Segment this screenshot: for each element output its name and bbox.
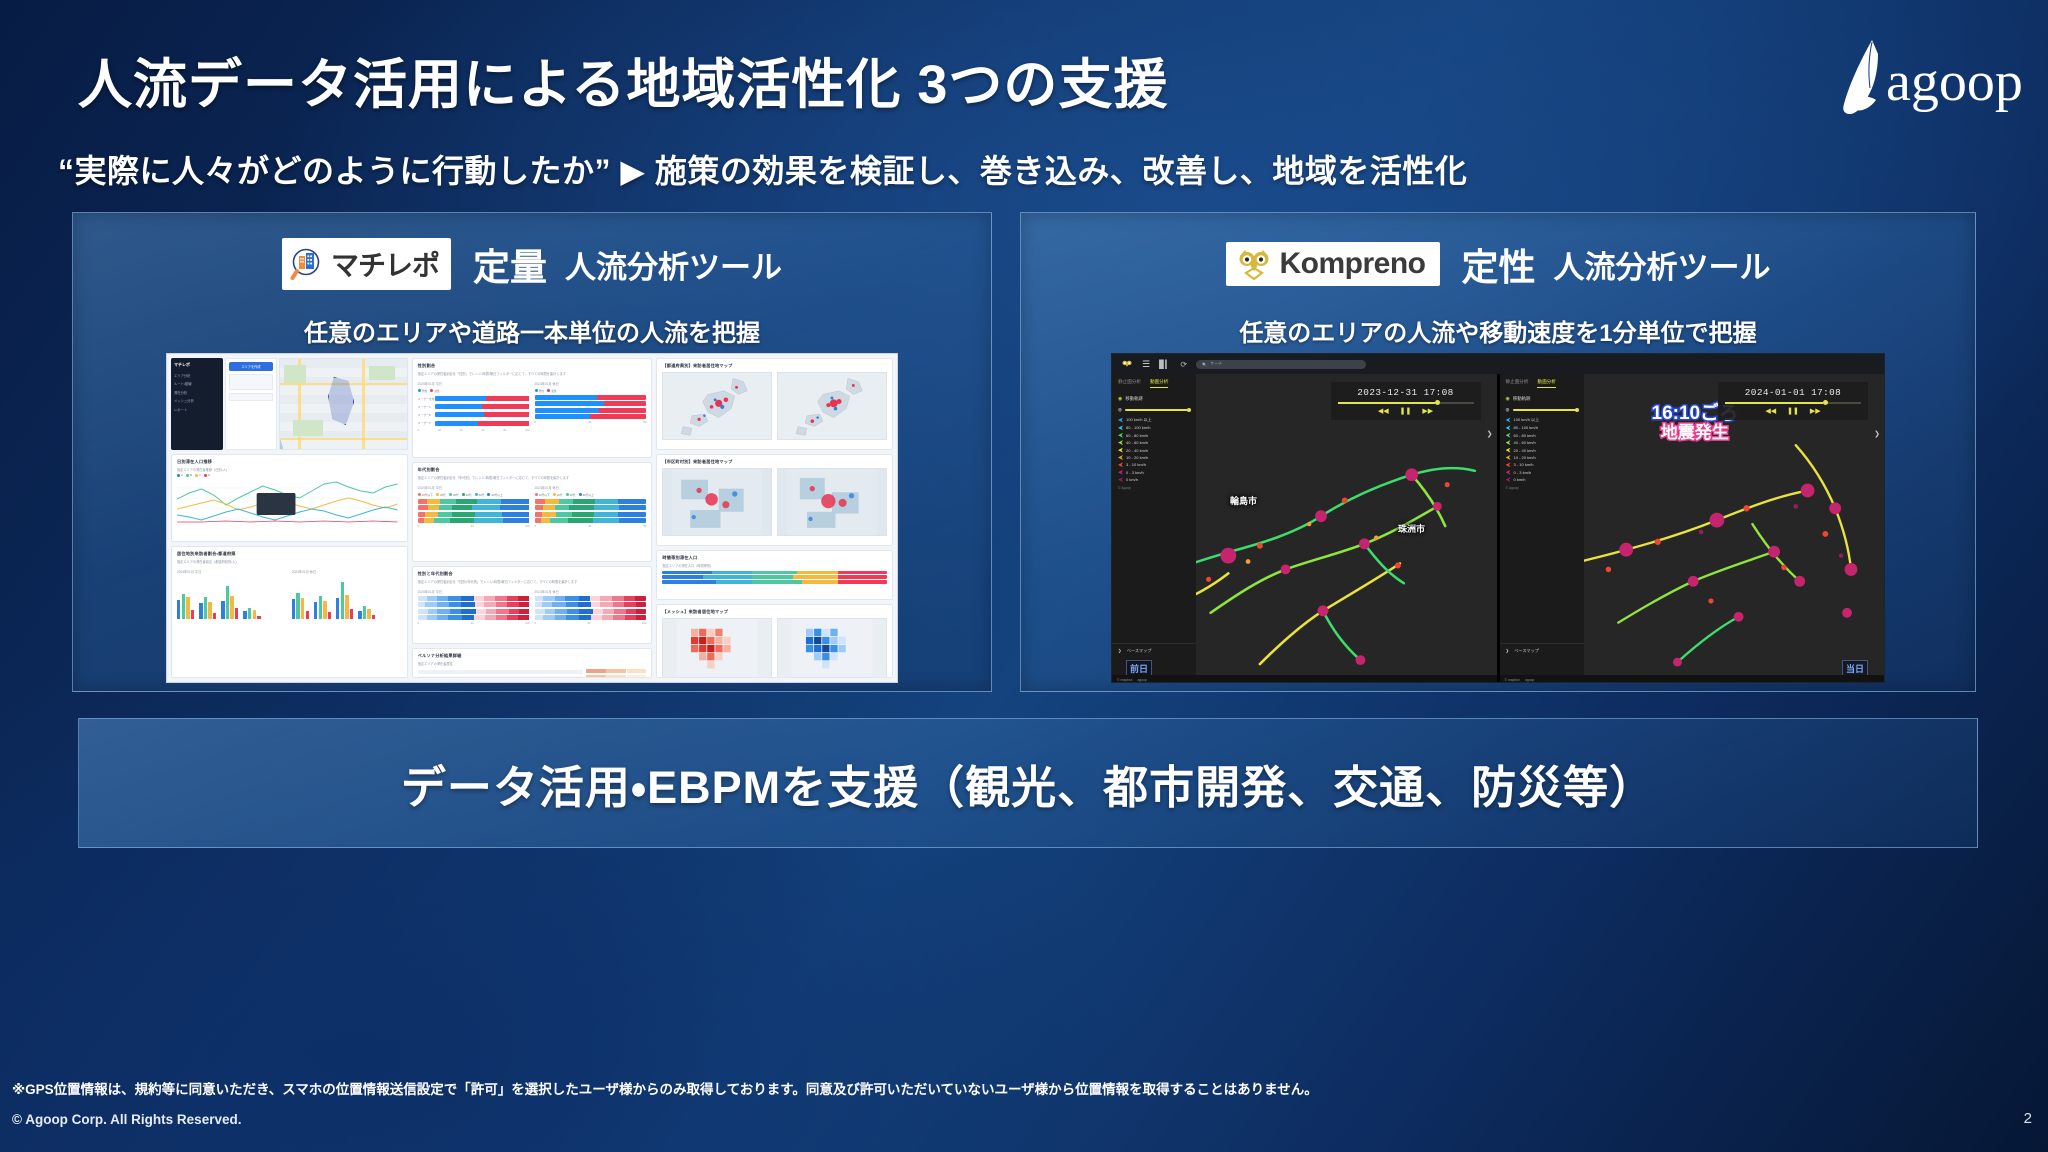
axis-tick: 20 (438, 429, 441, 432)
legend-age: 10代以下 (422, 493, 433, 497)
mr-card-title: 年代別割合 (418, 467, 647, 473)
kp-sidebar-right[interactable]: 静止画分析 動画分析 ◉ 移動軌跡 ◍ (1500, 374, 1584, 683)
page-subtitle: “実際に人々がどのように行動したか” ▶ 施策の効果を検証し、巻き込み、改善し、… (58, 146, 1467, 192)
kp-trace-toggle[interactable]: ◉ 移動軌跡 (1506, 396, 1578, 402)
legend-speed: 0 km/h (1514, 477, 1526, 482)
search-icon: 🔍 (1202, 362, 1207, 367)
mr-card-title: 【市区町村別】来訪者居住地マップ (662, 459, 887, 465)
kp-attribution-right: © mapbox agoop (1500, 675, 1885, 683)
legend-speed: 100 km/h 以上 (1514, 417, 1540, 423)
legend-speed: 80 - 100 km/h (1126, 425, 1150, 430)
mr-legend: AB CD (177, 474, 402, 477)
mr-area-panel[interactable]: エリアを作成 (225, 358, 277, 450)
legend-female: 女性 (551, 389, 556, 393)
forward-icon[interactable]: ▶▶ (1810, 407, 1821, 415)
legend-age: 60代以上 (492, 493, 503, 497)
slide-canvas: 人流データ活用による地域活性化 3つの支援 “実際に人々がどのように行動したか”… (0, 0, 2048, 1152)
kp-trace-toggle[interactable]: ◉ 移動軌跡 (1118, 396, 1190, 402)
mr-card-title: 日別滞在人口推移 (177, 459, 402, 465)
mr-period-label: 2024年01月 休日 (535, 589, 647, 594)
mr-card-origin-map-mesh[interactable]: 【メッシュ】来訪者居住地マップ (656, 604, 893, 678)
tab-video-analysis[interactable]: 動画分析 (1537, 379, 1555, 388)
row-label: ユーザーC (418, 421, 435, 425)
rewind-icon[interactable]: ◀◀ (1765, 407, 1776, 415)
axis-tick: 60 (482, 429, 485, 432)
mr-card-subtitle: 指定エリアの滞在者割合を「年代別」でレンジ・時間・曜日フィルターに応じて、すべて… (418, 475, 647, 480)
mr-card-gender-age[interactable]: 性別と年代別割合 指定エリアの滞在者割合を「性別×年代別」でレンジ・時間・曜日フ… (412, 566, 653, 644)
kp-city-wajima: 輪島市 (1230, 494, 1257, 507)
kompreno-map-screenshot[interactable]: ☰ ▊▎ ⟳ 🔍 サーチ (1111, 353, 1885, 683)
kp-basemap-toggle[interactable]: ❯ ベースマップ (1500, 643, 1584, 658)
legend-age: 10代以下 (539, 493, 550, 497)
agoop-logo: agoop (1828, 36, 2028, 122)
mr-card-daily-trend[interactable]: 日別滞在人口推移 指定エリアの滞在者推移（日別・人） AB CD (171, 454, 408, 542)
mr-bar-chart-holiday: 2024年01月 休日 (292, 568, 402, 620)
mr-area-item[interactable] (229, 393, 273, 401)
axis-tick: 80 (643, 525, 646, 528)
mr-card-subtitle: 指定エリアの滞在者割合（都道府県別・人） (177, 559, 402, 564)
legend-age: 50代 (479, 493, 485, 497)
axis-tick: 100 (642, 622, 646, 625)
kp-copyright: © Agoop (1506, 486, 1578, 490)
machirepo-logo-text: マチレポ (331, 244, 439, 284)
rewind-icon[interactable]: ◀◀ (1378, 407, 1389, 415)
kompreno-description: 任意のエリアの人流や移動速度を1分単位で把握 (1021, 313, 1975, 348)
chevron-right-icon: ❯ (1118, 648, 1122, 653)
eye-icon: ◉ (1118, 396, 1122, 402)
mr-period-label: 2024年01月 休日 (535, 485, 647, 490)
mr-card-title: 時間帯別滞在人口 (662, 555, 887, 561)
mr-nav-item[interactable]: メッシュ分析 (174, 398, 220, 403)
mr-card-subtitle: 指定エリアの滞在者推移（日別・人） (177, 467, 402, 472)
mr-gender-weekday: 2024年01月 平日 男性女性 ユーザー全体 ユーザーA ユーザーB ユーザー… (418, 380, 530, 432)
kp-speed-legend: 100 km/h 以上 80 - 100 km/h 60 - 80 km/h 4… (1118, 417, 1190, 482)
mr-card-origin-map-city[interactable]: 【市区町村別】来訪者居住地マップ (656, 454, 893, 546)
mr-period-label: 2024年01月 平日 (418, 381, 530, 386)
mr-card-title: 性別と年代別割合 (418, 571, 647, 577)
legend-speed: 10 - 20 km/h (1126, 455, 1148, 460)
kompreno-category: 定性 (1462, 237, 1536, 291)
mr-card-persona[interactable]: ペルソナ分析結果詳細 指定エリアの滞在者属性 (412, 648, 653, 678)
legend-speed: 10 - 20 km/h (1514, 455, 1536, 460)
axis-tick: 80 (503, 429, 506, 432)
axis-tick: 40 (588, 421, 591, 424)
kp-time-control-left[interactable]: 2023-12-31 17:08 ◀◀ ❚❚ ▶▶ (1331, 382, 1481, 420)
mr-create-area-button[interactable]: エリアを作成 (229, 362, 273, 371)
kp-opacity-slider[interactable]: ◍ (1118, 407, 1190, 413)
mr-card-subtitle: 指定エリアの滞在者割合を「性別×年代別」でレンジ・時間・曜日フィルターに応じて、… (418, 579, 647, 584)
mr-area-map[interactable] (279, 358, 408, 450)
axis-tick: 100 (525, 622, 529, 625)
japan-map-weekday[interactable] (662, 372, 772, 440)
legend-speed: 3 - 10 km/h (1126, 462, 1146, 467)
mr-card-age[interactable]: 年代別割合 指定エリアの滞在者割合を「年代別」でレンジ・時間・曜日フィルターに応… (412, 462, 653, 562)
tab-static-analysis[interactable]: 静止画分析 (1118, 379, 1141, 388)
mr-card-subtitle: 指定エリアの滞在人口（時間帯別） (662, 563, 887, 568)
axis-tick: 60 (471, 622, 474, 625)
owl-icon-small (1121, 359, 1133, 370)
axis-tick: 40 (460, 429, 463, 432)
pause-icon[interactable]: ❚❚ (1400, 407, 1412, 415)
panel-machirepo: マチレポ 定量 人流分析ツール 任意のエリアや道路一本単位の人流を把握 マチレポ… (72, 212, 992, 692)
mr-period-label: 2024年01月 休日 (292, 569, 402, 574)
kp-search-input[interactable]: 🔍 サーチ (1196, 360, 1366, 369)
kp-attribution-left: © mapbox agoop (1112, 675, 1497, 683)
mr-card-title: 性別割合 (418, 363, 647, 369)
mr-period-label: 2024年01月 休日 (535, 381, 647, 386)
axis-tick: 100 (525, 429, 529, 432)
mr-gender-age-holiday: 2024年01月 休日 060100 (535, 588, 647, 625)
axis-tick: 0 (535, 622, 536, 625)
mr-period-label: 2024年01月 平日 (177, 569, 287, 574)
machirepo-tool-label: 人流分析ツール (565, 242, 782, 287)
kp-toolbar[interactable]: ☰ ▊▎ ⟳ 🔍 サーチ (1112, 354, 1884, 374)
agoop-attribution: agoop (1138, 678, 1147, 682)
page-number: 2 (2024, 1110, 2032, 1127)
legend-age: 40代 (466, 493, 472, 497)
legend-speed: 0 - 3 km/h (1126, 470, 1144, 475)
mr-card-visitor-origin[interactable]: 居住地別来訪者割合・都道府県 指定エリアの滞在者割合（都道府県別・人） 2024… (171, 546, 408, 678)
axis-tick: 60 (588, 622, 591, 625)
mr-card-subtitle: 指定エリアの滞在者割合を「性別」でレンジ・時間・曜日フィルターに応じて、すべての… (418, 371, 647, 376)
mr-gender-holiday: 2024年01月 休日 男性女性 04080 (535, 380, 647, 432)
kp-opacity-slider[interactable]: ◍ (1506, 407, 1578, 413)
forward-icon[interactable]: ▶▶ (1422, 407, 1433, 415)
eye-icon: ◉ (1506, 396, 1510, 402)
mr-card-title: 居住地別来訪者割合・都道府県 (177, 551, 402, 557)
mr-card-origin-map-pref[interactable]: 【都道府県別】来訪者居住地マップ (656, 358, 893, 450)
kp-timestamp-left: 2023-12-31 17:08 (1338, 387, 1474, 398)
kp-expand-chevron-right[interactable]: ❯ (1874, 430, 1880, 438)
legend-speed: 0 - 3 km/h (1514, 470, 1532, 475)
legend-speed: 40 - 60 km/h (1126, 440, 1148, 445)
machirepo-description: 任意のエリアや道路一本単位の人流を把握 (73, 313, 991, 348)
chart-icon[interactable]: ▊▎ (1159, 360, 1171, 369)
kompreno-logo-text: Kompreno (1280, 247, 1426, 281)
legend-male: 男性 (539, 389, 544, 393)
agoop-attribution: agoop (1525, 678, 1534, 682)
city-map-holiday[interactable] (777, 468, 887, 536)
legend-age: 20代 (440, 493, 446, 497)
machirepo-category: 定量 (473, 237, 547, 291)
legend-speed: 20 - 40 km/h (1514, 448, 1536, 453)
mapbox-attribution: © mapbox (1117, 678, 1133, 682)
magnifier-building-icon (290, 247, 324, 281)
kp-basemap-toggle[interactable]: ❯ ベースマップ (1112, 643, 1196, 658)
mr-nav-item[interactable]: エリア分析 (174, 373, 220, 378)
kp-trace-label: 移動軌跡 (1125, 396, 1143, 402)
kp-city-suzu: 珠洲市 (1398, 522, 1425, 535)
mapbox-attribution: © mapbox (1505, 678, 1521, 682)
pause-icon[interactable]: ❚❚ (1787, 407, 1799, 415)
footnote-gps: ※GPS位置情報は、規約等に同意いただき、スマホの位置情報送信設定で「許可」を選… (12, 1078, 1318, 1098)
legend-speed: 3 - 10 km/h (1514, 462, 1534, 467)
legend-age: 20代 (557, 493, 563, 497)
mr-card-title: ペルソナ分析結果詳細 (418, 653, 647, 659)
machirepo-header: マチレポ 定量 人流分析ツール (73, 237, 991, 291)
kp-sidebar-left[interactable]: 静止画分析 動画分析 ◉ 移動軌跡 ◍ (1112, 374, 1196, 683)
kp-timestamp-right: 2024-01-01 17:08 (1725, 387, 1861, 398)
axis-tick: 0 (418, 429, 419, 432)
mr-card-subtitle: 指定エリアの滞在者属性 (418, 661, 647, 666)
legend-age: 60代以上 (583, 493, 594, 497)
mr-card-title: 【都道府県別】来訪者居住地マップ (662, 363, 887, 369)
mr-gender-age-weekday: 2024年01月 平日 060100 (418, 588, 530, 625)
panel-kompreno: Kompreno 定性 人流分析ツール 任意のエリアの人流や移動速度を1分単位で… (1020, 212, 1976, 692)
legend-speed: 0 km/h (1126, 477, 1138, 482)
mr-line-chart (177, 479, 402, 525)
menu-icon[interactable]: ☰ (1142, 359, 1150, 370)
summary-banner-text: データ活用・EBPMを支援（観光、都市開発、交通、防災等） (401, 751, 1655, 816)
tab-video-analysis[interactable]: 動画分析 (1150, 379, 1168, 388)
mesh-map-weekday[interactable] (662, 618, 772, 678)
refresh-icon[interactable]: ⟳ (1180, 360, 1187, 369)
row-label: ユーザー全体 (418, 397, 435, 401)
legend-age: 30代 (453, 493, 459, 497)
kp-basemap-label: ベースマップ (1514, 648, 1539, 653)
mr-nav-item[interactable]: 滞在分析 (174, 390, 220, 395)
japan-map-holiday[interactable] (777, 372, 887, 440)
mr-nav-item[interactable]: レポート (174, 407, 220, 412)
mr-period-label: 2024年01月 平日 (418, 485, 530, 490)
legend-speed: 60 - 80 km/h (1514, 433, 1536, 438)
kp-progress-left[interactable] (1338, 402, 1474, 404)
legend-speed: 20 - 40 km/h (1126, 448, 1148, 453)
droplet-icon: ◍ (1118, 407, 1122, 413)
legend-speed: 80 - 100 km/h (1514, 425, 1538, 430)
axis-tick: 0 (418, 525, 419, 528)
legend-speed: 100 km/h 以上 (1126, 417, 1152, 423)
kp-pane-right[interactable]: 静止画分析 動画分析 ◉ 移動軌跡 ◍ (1497, 374, 1885, 683)
kp-tabs[interactable]: 静止画分析 動画分析 (1506, 379, 1578, 391)
kp-copyright: © Agoop (1118, 486, 1190, 490)
machirepo-dashboard-screenshot[interactable]: マチレポ エリア分析 ルート・動線 滞在分析 メッシュ分析 レポート エリアを作… (166, 353, 898, 683)
mr-bar-chart-weekday: 2024年01月 平日 (177, 568, 287, 620)
kp-search-placeholder: サーチ (1210, 361, 1222, 367)
row-label: ユーザーB (418, 413, 435, 417)
legend-speed: 40 - 60 km/h (1514, 440, 1536, 445)
machirepo-logo: マチレポ (282, 238, 451, 290)
kp-time-control-right[interactable]: 2024-01-01 17:08 ◀◀ ❚❚ ▶▶ (1718, 382, 1868, 420)
mesh-map-holiday[interactable] (777, 618, 887, 678)
mr-nav-logo: マチレポ (174, 362, 220, 368)
mr-card-gender[interactable]: 性別割合 指定エリアの滞在者割合を「性別」でレンジ・時間・曜日フィルターに応じて… (412, 358, 653, 458)
droplet-icon: ◍ (1506, 407, 1510, 413)
kp-speed-legend: 100 km/h 以上 80 - 100 km/h 60 - 80 km/h 4… (1506, 417, 1578, 482)
axis-tick: 40 (588, 525, 591, 528)
mr-period-label: 2024年01月 平日 (418, 589, 530, 594)
footer-copyright: © Agoop Corp. All Rights Reserved. (12, 1112, 241, 1127)
mr-area-item[interactable] (229, 374, 273, 390)
axis-tick: 0 (418, 622, 419, 625)
legend-speed: 60 - 80 km/h (1126, 433, 1148, 438)
mr-age-weekday: 2024年01月 平日 10代以下 20代 30代 40代 50代 60代以上 (418, 484, 530, 528)
legend-male: 男性 (422, 389, 427, 393)
axis-tick: 0 (535, 525, 536, 528)
tab-static-analysis[interactable]: 静止画分析 (1506, 379, 1529, 388)
kp-tabs[interactable]: 静止画分析 動画分析 (1118, 379, 1190, 391)
legend-female: 女性 (434, 389, 439, 393)
axis-tick: 40 (471, 525, 474, 528)
legend-age: 30代 (570, 493, 576, 497)
kp-quake-label: 地震発生 (1652, 424, 1739, 442)
axis-tick: 80 (643, 421, 646, 424)
row-label: ユーザーA (418, 405, 435, 409)
mr-card-title: 【メッシュ】来訪者居住地マップ (662, 609, 887, 615)
mr-age-holiday: 2024年01月 休日 10代以下 20代 30代 60代以上 (535, 484, 647, 528)
axis-tick: 100 (525, 525, 529, 528)
mr-card-hourly[interactable]: 時間帯別滞在人口 指定エリアの滞在人口（時間帯別） (656, 550, 893, 600)
chevron-right-icon: ❯ (1506, 648, 1510, 653)
kompreno-tool-label: 人流分析ツール (1554, 242, 1771, 287)
svg-text:agoop: agoop (1886, 51, 2023, 113)
kp-trace-label: 移動軌跡 (1513, 396, 1531, 402)
owl-icon (1235, 248, 1273, 280)
axis-tick: 0 (535, 421, 536, 424)
kp-basemap-label: ベースマップ (1127, 648, 1152, 653)
kompreno-header: Kompreno 定性 人流分析ツール (1021, 237, 1975, 291)
summary-banner: データ活用・EBPMを支援（観光、都市開発、交通、防災等） (78, 718, 1978, 848)
city-map-weekday[interactable] (662, 468, 772, 536)
page-title: 人流データ活用による地域活性化 3つの支援 (78, 40, 1168, 119)
kp-expand-chevron-left[interactable]: ❯ (1487, 430, 1493, 438)
mr-nav-item[interactable]: ルート・動線 (174, 381, 220, 386)
kp-pane-left[interactable]: 静止画分析 動画分析 ◉ 移動軌跡 ◍ (1112, 374, 1497, 683)
mr-sidebar-nav[interactable]: マチレポ エリア分析 ルート・動線 滞在分析 メッシュ分析 レポート (171, 358, 223, 450)
kompreno-logo: Kompreno (1226, 242, 1440, 286)
kp-progress-right[interactable] (1725, 402, 1861, 404)
